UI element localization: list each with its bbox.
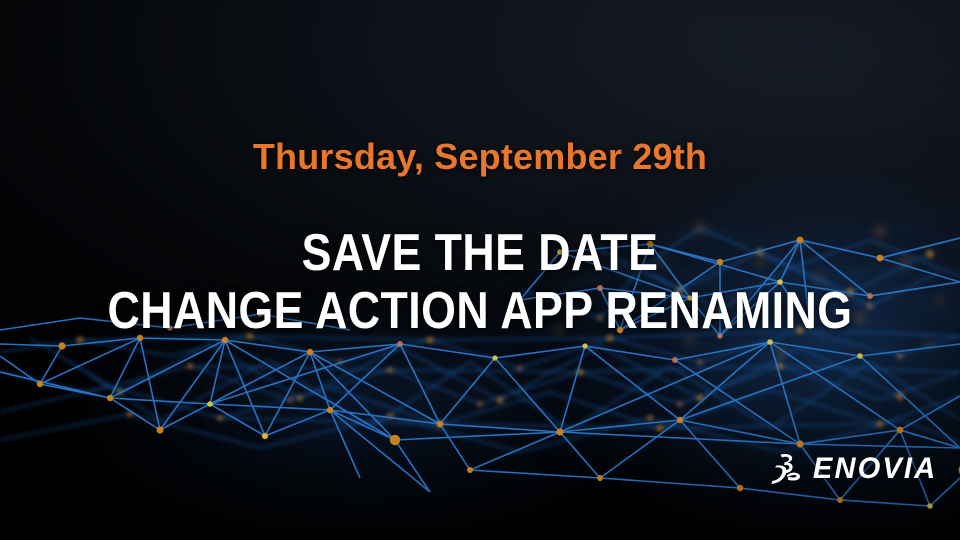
slide-content: Thursday, September 29th SAVE THE DATE C…: [0, 0, 960, 540]
enovia-wordmark: ENOVIA: [813, 454, 937, 484]
enovia-logo: ENOVIA: [768, 452, 939, 486]
headline-line-1: SAVE THE DATE: [67, 224, 893, 282]
save-the-date-slide: Thursday, September 29th SAVE THE DATE C…: [0, 0, 960, 540]
headline-line-2: CHANGE ACTION APP RENAMING: [67, 282, 893, 340]
event-date-text: Thursday, September 29th: [0, 136, 960, 178]
headline-block: SAVE THE DATE CHANGE ACTION APP RENAMING: [67, 224, 893, 340]
3ds-compass-logo-icon: [768, 452, 802, 486]
